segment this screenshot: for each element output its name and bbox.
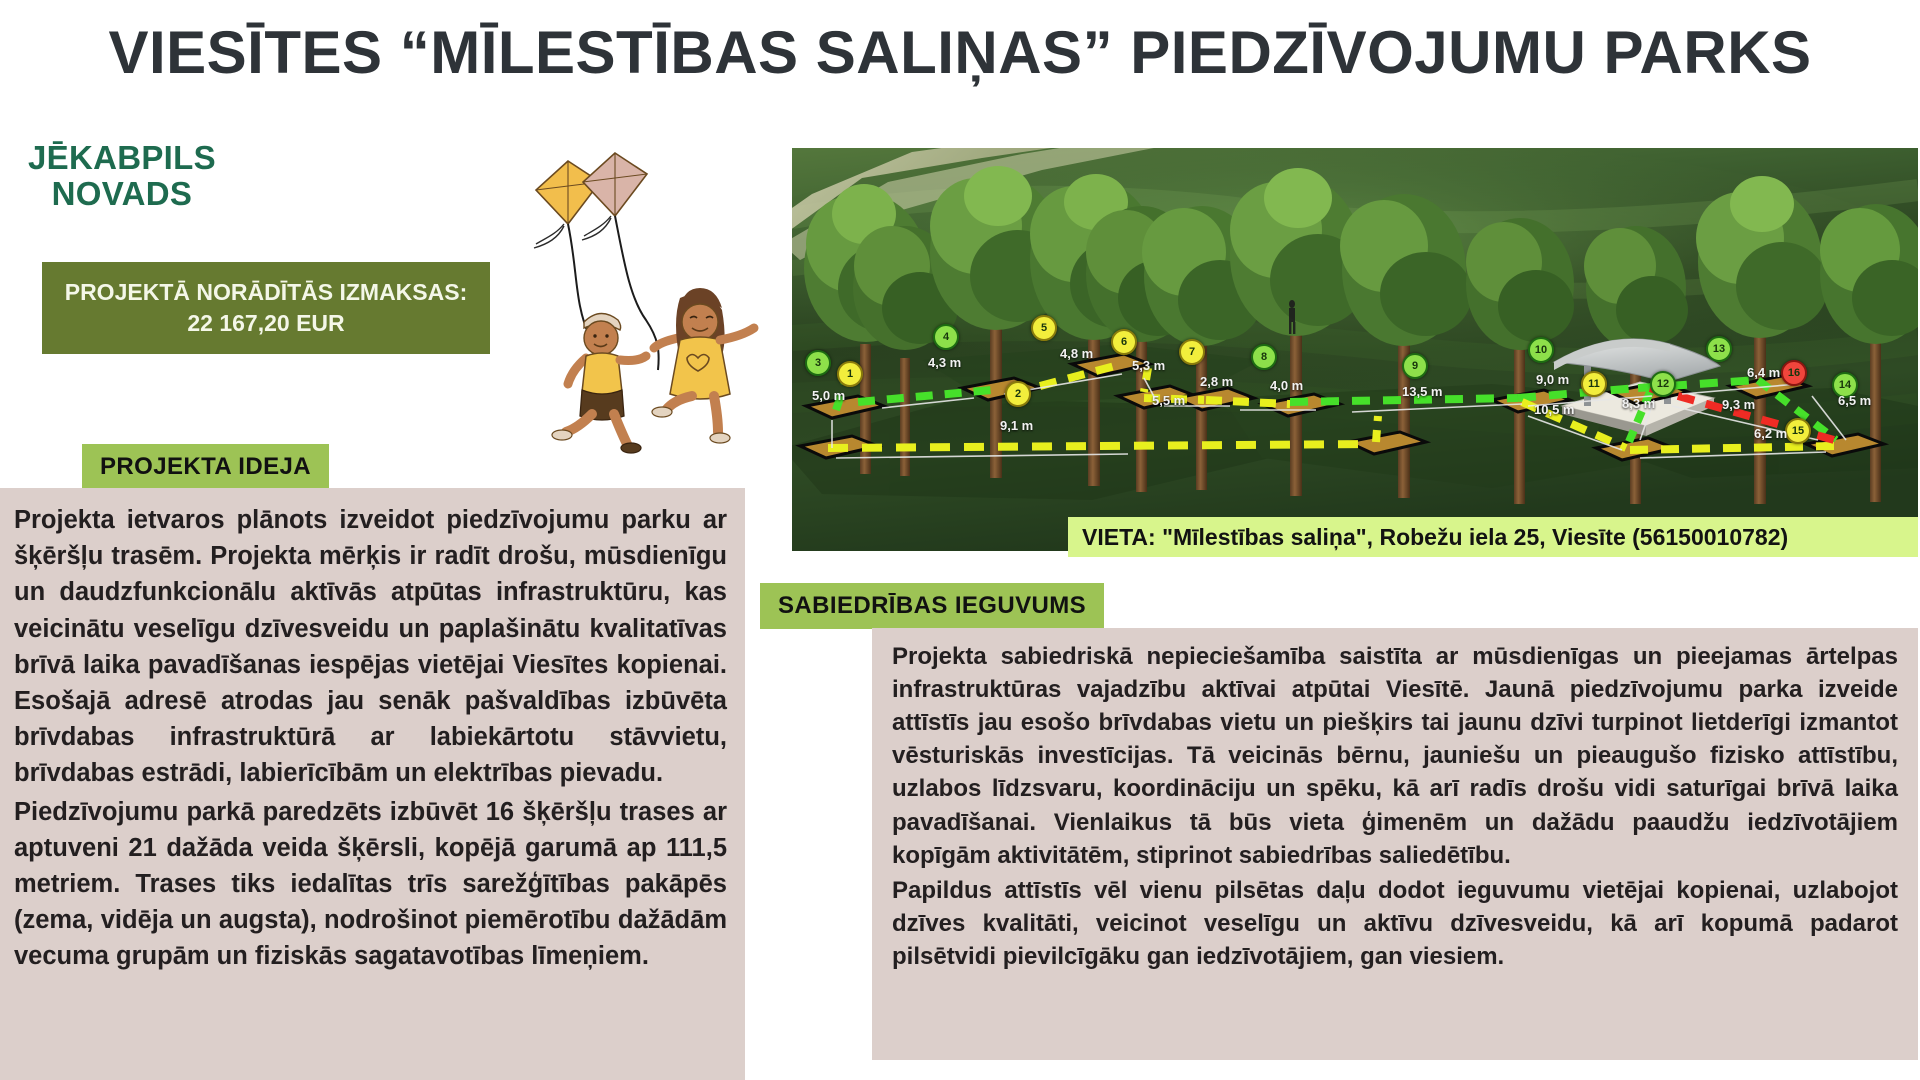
location-caption-bar: VIETA: "Mīlestības saliņa", Robežu iela …: [1068, 517, 1918, 557]
park-3d-render: 123456789101112131415165,0 m4,3 m4,8 m5,…: [792, 148, 1918, 551]
dimension-label: 9,0 m: [1536, 372, 1569, 387]
dimension-label: 8,3 m: [1622, 396, 1655, 411]
dimension-label: 4,3 m: [928, 355, 961, 370]
route-marker: 10: [1528, 337, 1554, 363]
route-marker: 11: [1581, 371, 1607, 397]
dimension-label: 5,0 m: [812, 388, 845, 403]
cost-amount: 22 167,20 EUR: [187, 308, 344, 339]
project-cost-box: PROJEKTĀ NORĀDĪTĀS IZMAKSAS: 22 167,20 E…: [42, 262, 490, 354]
dimension-label: 5,3 m: [1132, 358, 1165, 373]
kite-yellow-icon: [534, 161, 600, 248]
panel-projekta-ideja: Projekta ietvaros plānots izveidot piedz…: [0, 488, 745, 1080]
children-flying-kites-illustration: [512, 152, 784, 462]
route-marker: 8: [1251, 344, 1277, 370]
boy-figure: [552, 313, 646, 453]
route-marker: 3: [805, 350, 831, 376]
chip-sabiedribas-ieguvums: SABIEDRĪBAS IEGUVUMS: [760, 583, 1104, 629]
girl-figure: [652, 288, 754, 443]
route-marker: 9: [1402, 353, 1428, 379]
dimension-label: 2,8 m: [1200, 374, 1233, 389]
route-marker: 12: [1650, 371, 1676, 397]
benefit-paragraph-1: Projekta sabiedriskā nepieciešamība sais…: [892, 640, 1898, 872]
idea-paragraph-2: Piedzīvojumu parkā paredzēts izbūvēt 16 …: [14, 794, 727, 975]
route-marker: 5: [1031, 315, 1057, 341]
dimension-label: 6,4 m: [1747, 365, 1780, 380]
dimension-label: 6,5 m: [1838, 393, 1871, 408]
idea-paragraph-1: Projekta ietvaros plānots izveidot piedz…: [14, 502, 727, 792]
route-marker: 1: [837, 361, 863, 387]
render-overlay: 123456789101112131415165,0 m4,3 m4,8 m5,…: [792, 148, 1918, 551]
dimension-label: 10,5 m: [1534, 402, 1574, 417]
benefit-paragraph-2: Papildus attīstīs vēl vienu pilsētas daļ…: [892, 874, 1898, 973]
panel-sabiedribas-ieguvums: Projekta sabiedriskā nepieciešamība sais…: [872, 628, 1918, 1060]
jekabpils-novads-logo: JĒKABPILS NOVADS: [28, 140, 216, 211]
kite-pink-icon: [582, 153, 647, 240]
chip-projekta-ideja: PROJEKTA IDEJA: [82, 444, 329, 490]
route-marker: 7: [1179, 339, 1205, 365]
page-title: VIESĪTES “MĪLESTĪBAS SALIŅAS” PIEDZĪVOJU…: [0, 18, 1920, 87]
cost-label: PROJEKTĀ NORĀDĪTĀS IZMAKSAS:: [65, 277, 468, 308]
dimension-label: 9,3 m: [1722, 397, 1755, 412]
dimension-label: 5,5 m: [1152, 393, 1185, 408]
route-marker: 2: [1005, 381, 1031, 407]
route-marker: 6: [1111, 329, 1137, 355]
dimension-label: 6,2 m: [1754, 426, 1787, 441]
dimension-label: 4,8 m: [1060, 346, 1093, 361]
logo-line-2: NOVADS: [28, 176, 216, 212]
route-marker: 15: [1785, 418, 1811, 444]
route-marker: 4: [933, 324, 959, 350]
dimension-label: 9,1 m: [1000, 418, 1033, 433]
logo-line-1: JĒKABPILS: [28, 139, 216, 176]
route-marker: 16: [1781, 360, 1807, 386]
dimension-label: 13,5 m: [1402, 384, 1442, 399]
route-marker: 13: [1706, 336, 1732, 362]
dimension-label: 4,0 m: [1270, 378, 1303, 393]
